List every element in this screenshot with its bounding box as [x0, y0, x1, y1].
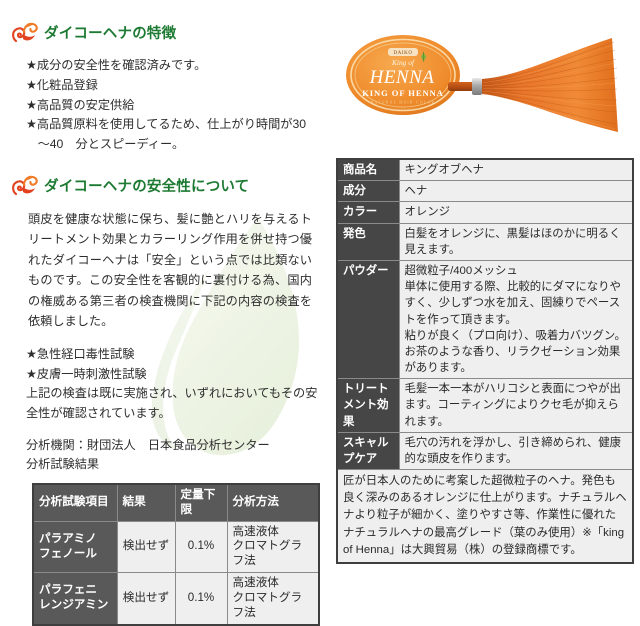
floral-swirl-icon	[12, 175, 38, 196]
spec-label: パウダー	[337, 260, 399, 378]
method-line-2: クロマトグラフ法	[233, 539, 303, 567]
column-header-method: 分析方法	[227, 484, 319, 521]
safety-section-heading: ダイコーヘナの安全性について	[12, 175, 318, 196]
safety-heading-label: ダイコーヘナの安全性について	[44, 175, 249, 196]
table-row: 発色 白髪をオレンジに、黒髪はほのかに明るく見えます。	[337, 223, 633, 260]
left-column: ダイコーヘナの特徴 ★成分の安全性を確認済みです。 ★化粧品登録 ★高品質の安定…	[0, 0, 330, 536]
cell-limit: 0.1%	[175, 521, 227, 572]
svg-text:HENNA: HENNA	[369, 67, 435, 88]
list-item: ★高品質の安定供給	[26, 96, 318, 116]
table-header-row: 分析試験項目 結果 定量下限 分析方法	[33, 484, 319, 521]
product-spec-table: 商品名 キングオブヘナ 成分 ヘナ カラー オレンジ 発色 白髪をオレンジに、黒…	[336, 158, 634, 564]
svg-text:DAIKO TRADING: DAIKO TRADING	[384, 107, 421, 111]
spec-footnote: 匠が日本人のために考案した超微粒子のヘナ。発色も良く深みのあるオレンジに仕上がり…	[337, 470, 633, 563]
column-header-item: 分析試験項目	[33, 484, 117, 521]
svg-text:NATURAL HAIR COLOR: NATURAL HAIR COLOR	[371, 101, 436, 105]
spec-label: トリートメント効果	[337, 379, 399, 433]
laboratory-info: 分析機関：財団法人 日本食品分析センター 分析試験結果	[12, 436, 318, 475]
item-line-2: フェノール	[39, 547, 97, 560]
spec-label: スキャルプケア	[337, 432, 399, 469]
cell-limit: 0.1%	[175, 573, 227, 625]
column-header-result: 結果	[117, 484, 175, 521]
item-line-1: パラフェニ	[39, 583, 97, 596]
spec-label: 成分	[337, 181, 399, 202]
list-item: ★化粧品登録	[26, 76, 318, 96]
table-row: スキャルプケア 毛穴の汚れを浮かし、引き締められ、健康的な頭皮を作ります。	[337, 432, 633, 469]
table-row: パラアミノ フェノール 検出せず 0.1% 高速液体 クロマトグラフ法	[33, 521, 319, 572]
analysis-result-table: 分析試験項目 結果 定量下限 分析方法 パラアミノ フェノール 検出せず 0.1…	[32, 483, 320, 626]
lab-name: 分析機関：財団法人 日本食品分析センター	[26, 436, 318, 456]
table-row: パウダー 超微粒子/400メッシュ単体に使用する際、比較的にダマになりやすく、少…	[337, 260, 633, 378]
spec-value: 毛髪一本一本がハリコシと表面につやが出ます。コーティングによりクセ毛が抑えられま…	[399, 379, 633, 433]
method-line-1: 高速液体	[233, 576, 279, 589]
table-row: トリートメント効果 毛髪一本一本がハリコシと表面につやが出ます。コーティングによ…	[337, 379, 633, 433]
cell-result: 検出せず	[117, 521, 175, 572]
table-row: 商品名 キングオブヘナ	[337, 159, 633, 181]
list-item: ★成分の安全性を確認済みです。	[26, 56, 318, 76]
features-heading-label: ダイコーヘナの特徴	[44, 22, 176, 43]
features-bullet-list: ★成分の安全性を確認済みです。 ★化粧品登録 ★高品質の安定供給 ★高品質原料を…	[12, 56, 318, 155]
right-column: DAIKO King of HENNA KING OF HENNA NATURA…	[330, 0, 640, 536]
spec-value: ヘナ	[399, 181, 633, 202]
cell-result: 検出せず	[117, 573, 175, 625]
floral-swirl-icon	[12, 22, 38, 43]
henna-hair-swatch	[446, 32, 626, 140]
king-of-henna-logo: DAIKO King of HENNA KING OF HENNA NATURA…	[344, 32, 462, 118]
table-row: 成分 ヘナ	[337, 181, 633, 202]
table-row: カラー オレンジ	[337, 202, 633, 223]
item-line-2: レンジアミン	[39, 598, 108, 611]
cell-method: 高速液体 クロマトグラフ法	[227, 573, 319, 625]
safety-conclusion: 上記の検査は既に実施され、いずれにおいてもその安全性が確認されています。	[26, 384, 318, 424]
table-row: 匠が日本人のために考案した超微粒子のヘナ。発色も良く深みのあるオレンジに仕上がり…	[337, 470, 633, 563]
spec-label: 商品名	[337, 159, 399, 181]
spec-label: カラー	[337, 202, 399, 223]
analysis-result-label: 分析試験結果	[26, 455, 318, 475]
svg-text:King of: King of	[391, 58, 415, 67]
spec-value: 白髪をオレンジに、黒髪はほのかに明るく見えます。	[399, 223, 633, 260]
svg-text:KING OF HENNA: KING OF HENNA	[362, 88, 444, 98]
cell-item: パラアミノ フェノール	[33, 521, 117, 572]
method-line-2: クロマトグラフ法	[233, 591, 303, 619]
features-section-heading: ダイコーヘナの特徴	[12, 22, 318, 43]
column-header-limit: 定量下限	[175, 484, 227, 521]
list-item: ★高品質原料を使用してるため、仕上がり時間が30～40 分とスピーディー。	[26, 115, 318, 155]
spec-value: キングオブヘナ	[399, 159, 633, 181]
list-item: ★急性経口毒性試験	[26, 345, 318, 365]
spec-value: 超微粒子/400メッシュ単体に使用する際、比較的にダマになりやすく、少しずつ水を…	[399, 260, 633, 378]
spec-label: 発色	[337, 223, 399, 260]
product-photo: DAIKO King of HENNA KING OF HENNA NATURA…	[336, 32, 634, 144]
product-info-page: ダイコーヘナの特徴 ★成分の安全性を確認済みです。 ★化粧品登録 ★高品質の安定…	[0, 0, 640, 536]
safety-description: 頭皮を健康な状態に保ち、髪に艶とハリを与えるトリートメント効果とカラーリング作用…	[12, 209, 318, 332]
svg-text:DAIKO: DAIKO	[393, 51, 412, 56]
cell-item: パラフェニ レンジアミン	[33, 573, 117, 625]
table-row: パラフェニ レンジアミン 検出せず 0.1% 高速液体 クロマトグラフ法	[33, 573, 319, 625]
safety-test-list: ★急性経口毒性試験 ★皮膚一時刺激性試験 上記の検査は既に実施され、いずれにおい…	[12, 345, 318, 424]
item-line-1: パラアミノ	[39, 532, 97, 545]
spec-value: 毛穴の汚れを浮かし、引き締められ、健康的な頭皮を作ります。	[399, 432, 633, 469]
cell-method: 高速液体 クロマトグラフ法	[227, 521, 319, 572]
spec-value: オレンジ	[399, 202, 633, 223]
list-item: ★皮膚一時刺激性試験	[26, 365, 318, 385]
